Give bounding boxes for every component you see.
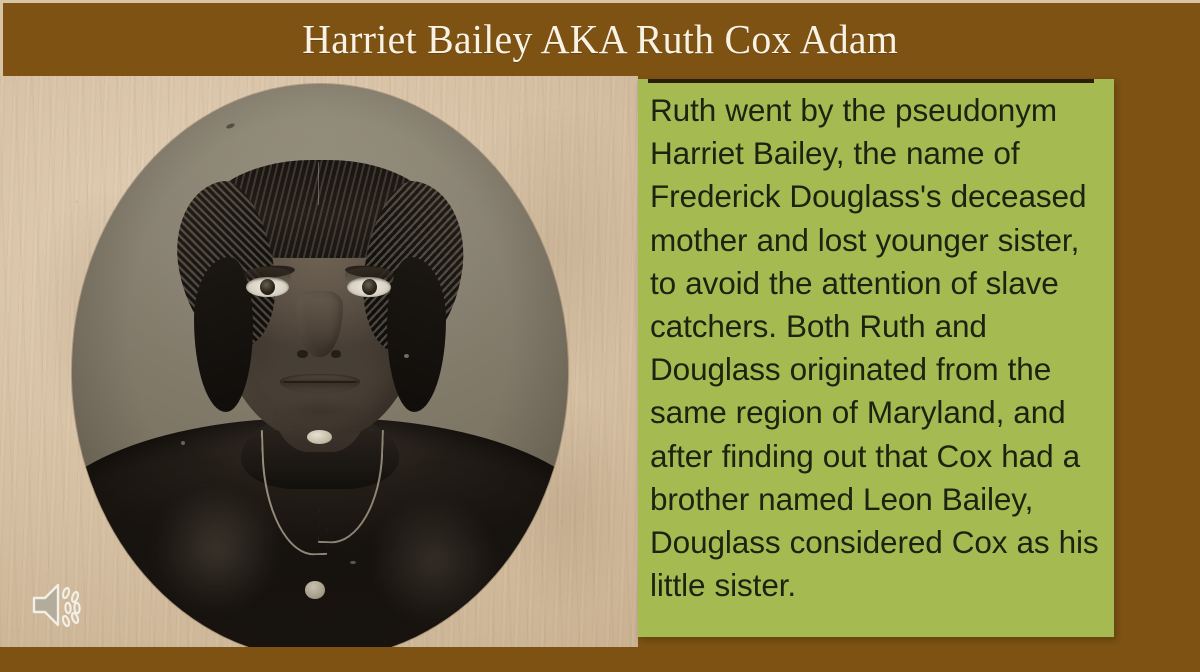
portrait-photo bbox=[0, 76, 638, 647]
hair-side-right bbox=[387, 257, 447, 412]
speaker-icon[interactable] bbox=[28, 578, 90, 632]
panel-top-rule bbox=[648, 79, 1094, 83]
slide: Harriet Bailey AKA Ruth Cox Adam bbox=[0, 0, 1200, 672]
eyelid-left bbox=[244, 267, 292, 282]
oval-portrait-window bbox=[72, 84, 568, 647]
necklace-pendant bbox=[305, 581, 325, 598]
plate-blemish bbox=[181, 441, 185, 445]
nostril-left bbox=[297, 350, 307, 357]
portrait-subject bbox=[72, 84, 568, 647]
title-bar: Harriet Bailey AKA Ruth Cox Adam bbox=[0, 3, 1200, 76]
text-panel: Ruth went by the pseudonym Harriet Baile… bbox=[638, 79, 1114, 637]
dress-highlight bbox=[151, 487, 280, 614]
chin-shadow bbox=[275, 403, 364, 423]
panel-body-text: Ruth went by the pseudonym Harriet Baile… bbox=[650, 89, 1102, 607]
eyelid-right bbox=[345, 267, 393, 282]
mouth-line bbox=[283, 381, 357, 382]
page-title: Harriet Bailey AKA Ruth Cox Adam bbox=[302, 19, 898, 60]
footer-strip bbox=[0, 647, 1200, 672]
hair-part bbox=[318, 162, 319, 205]
plate-blemish bbox=[225, 123, 235, 130]
necklace-clasp bbox=[307, 430, 332, 444]
nostril-right bbox=[331, 350, 341, 357]
dress-highlight bbox=[370, 498, 499, 625]
